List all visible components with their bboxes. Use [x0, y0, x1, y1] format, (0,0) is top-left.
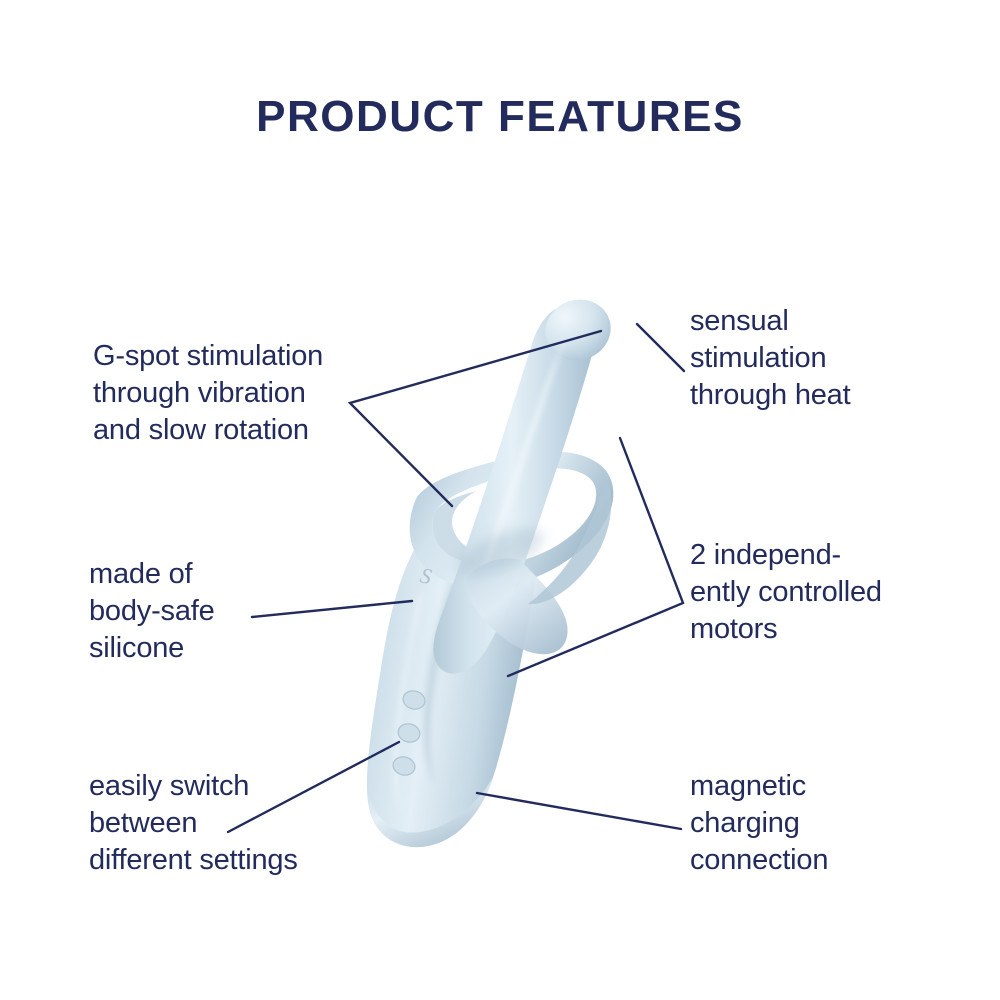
leader-line-g-spot	[350, 331, 601, 506]
leader-line-charging	[477, 793, 681, 829]
leader-line-heat	[637, 324, 684, 371]
leader-lines	[0, 0, 1000, 1000]
product-features-infographic: PRODUCT FEATURES	[0, 0, 1000, 1000]
leader-line-silicone	[252, 601, 412, 617]
leader-line-settings	[228, 742, 399, 832]
leader-line-motors	[508, 438, 683, 676]
